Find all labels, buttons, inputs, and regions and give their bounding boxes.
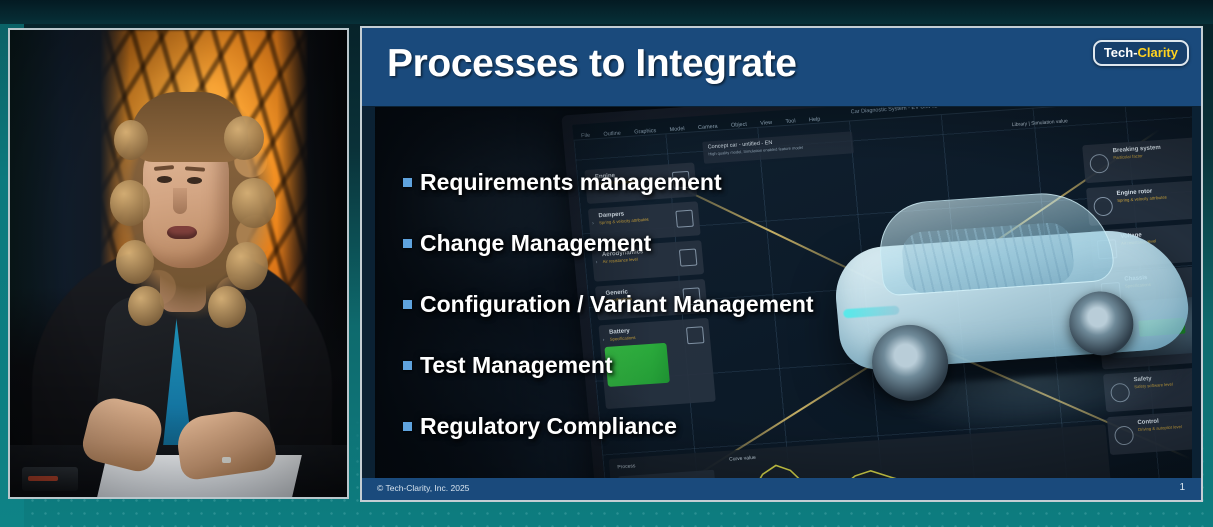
bullet-square-icon <box>403 361 412 370</box>
bullet-label: Requirements management <box>420 169 722 196</box>
list-item: Change Management <box>403 230 943 257</box>
logo-text-clarity: Clarity <box>1138 45 1178 60</box>
bullet-square-icon <box>403 422 412 431</box>
video-scene <box>10 30 347 497</box>
video-vignette <box>10 30 347 497</box>
bullet-square-icon <box>403 300 412 309</box>
bullet-label: Regulatory Compliance <box>420 413 677 440</box>
footer-copyright: © Tech-Clarity, Inc. 2025 <box>377 483 469 493</box>
tech-clarity-logo: Tech-Clarity <box>1093 40 1189 66</box>
presentation-slide-panel[interactable]: Processes to Integrate Tech-Clarity File… <box>360 26 1203 502</box>
bullet-label: Test Management <box>420 352 613 379</box>
slide-photo-cad-tablet: File Outline Graphics Model Camera Objec… <box>375 107 1192 482</box>
bullet-list: Requirements management Change Managemen… <box>403 169 943 474</box>
list-item: Regulatory Compliance <box>403 413 943 440</box>
slide-footer-bar: © Tech-Clarity, Inc. 2025 1 <box>362 478 1201 500</box>
logo-text-tech: Tech- <box>1104 45 1138 60</box>
list-item: Configuration / Variant Management <box>403 291 943 318</box>
stage-top-dark-band <box>0 0 1213 24</box>
bullet-label: Change Management <box>420 230 651 257</box>
bullet-square-icon <box>403 178 412 187</box>
list-item: Test Management <box>403 352 943 379</box>
page-title: Processes to Integrate <box>387 42 797 86</box>
webcam-video-panel[interactable] <box>8 28 349 499</box>
page-number: 1 <box>1179 482 1185 493</box>
list-item: Requirements management <box>403 169 943 196</box>
bullet-label: Configuration / Variant Management <box>420 291 814 318</box>
bullet-square-icon <box>403 239 412 248</box>
